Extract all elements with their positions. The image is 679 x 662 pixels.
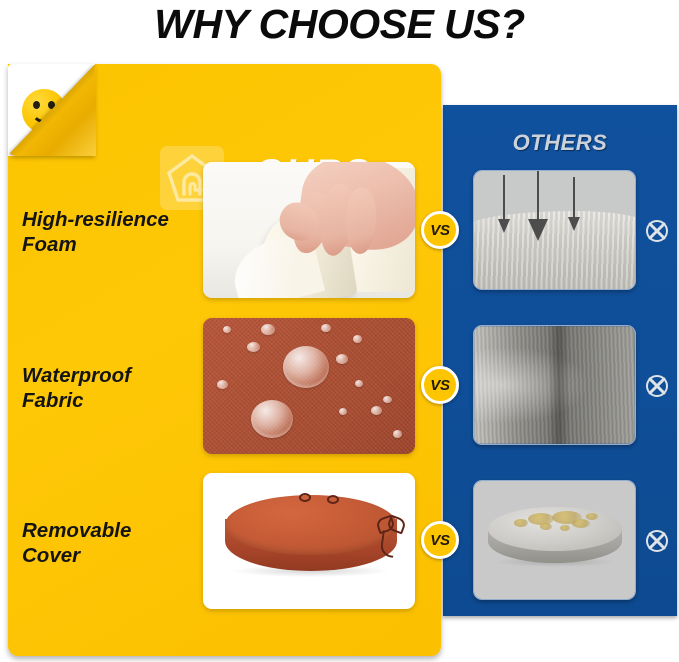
feature-label-line-2: Foam bbox=[22, 232, 197, 257]
others-image-waterproof bbox=[473, 325, 636, 445]
water-droplet bbox=[223, 326, 231, 333]
stain-mark bbox=[586, 513, 598, 520]
water-droplet bbox=[251, 400, 293, 438]
ours-image-removable-cover bbox=[203, 473, 415, 609]
stain-mark bbox=[560, 525, 570, 531]
vs-badge: VS bbox=[421, 521, 459, 559]
feature-label-high-resilience-foam: High-resilience Foam bbox=[22, 207, 197, 257]
vs-badge: VS bbox=[421, 211, 459, 249]
feature-label-removable-cover: Removable Cover bbox=[22, 518, 197, 568]
stain-mark bbox=[514, 519, 528, 527]
feature-label-line-2: Fabric bbox=[22, 388, 197, 413]
water-droplet bbox=[247, 342, 260, 352]
feature-label-line-1: High-resilience bbox=[22, 207, 197, 232]
others-image-removable-cover bbox=[473, 480, 636, 600]
water-droplet bbox=[393, 430, 402, 438]
stain-mark bbox=[572, 519, 590, 528]
vs-badge: VS bbox=[421, 366, 459, 404]
feature-label-waterproof-fabric: Waterproof Fabric bbox=[22, 363, 197, 413]
why-choose-us-infographic: WHY CHOOSE US? OTHERS bbox=[0, 0, 679, 662]
water-droplet bbox=[355, 380, 363, 387]
cushion-tie bbox=[299, 493, 311, 502]
feature-label-line-1: Removable bbox=[22, 518, 197, 543]
water-droplet bbox=[283, 346, 329, 388]
others-image-high-resilience bbox=[473, 170, 636, 290]
ours-image-high-resilience bbox=[203, 162, 415, 298]
water-droplet bbox=[336, 354, 348, 364]
stain-mark bbox=[540, 523, 552, 530]
circle-x-icon bbox=[644, 528, 670, 554]
page-title: WHY CHOOSE US? bbox=[0, 2, 679, 46]
circle-x-icon bbox=[644, 218, 670, 244]
damp-streak bbox=[548, 326, 570, 445]
water-droplet bbox=[339, 408, 347, 415]
water-droplet bbox=[261, 324, 275, 335]
water-droplet bbox=[217, 380, 228, 389]
page-curl-fold bbox=[8, 64, 96, 156]
circle-x-icon bbox=[644, 373, 670, 399]
ours-image-waterproof bbox=[203, 318, 415, 454]
others-panel-title: OTHERS bbox=[443, 130, 677, 156]
water-droplet bbox=[353, 335, 362, 343]
water-droplet bbox=[383, 396, 392, 403]
feature-label-line-1: Waterproof bbox=[22, 363, 197, 388]
water-droplet bbox=[371, 406, 382, 415]
cushion-tie bbox=[327, 495, 339, 504]
cushion-top bbox=[225, 495, 397, 555]
water-droplet bbox=[321, 324, 331, 332]
feature-label-line-2: Cover bbox=[22, 543, 197, 568]
